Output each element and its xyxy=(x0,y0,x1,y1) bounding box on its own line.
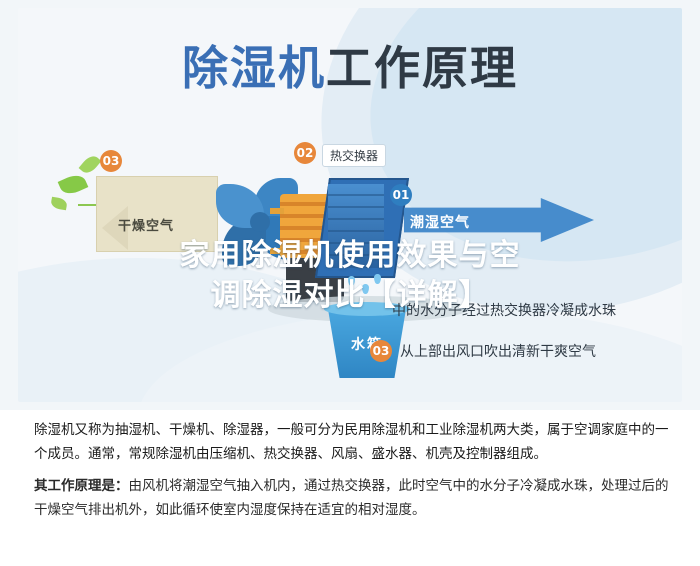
diagram-title: 除湿机工作原理 xyxy=(18,32,682,98)
leaf-icon xyxy=(79,153,102,177)
dry-air-label: 干燥空气 xyxy=(118,215,174,234)
badge-03-left: 03 xyxy=(100,150,122,172)
badge-02: 02 xyxy=(294,142,316,164)
article-paragraph-2: 其工作原理是：由风机将潮湿空气抽入机内，通过热交换器，此时空气中的水分子冷凝成水… xyxy=(34,474,670,522)
article-paragraph-1: 除湿机又称为抽湿机、干燥机、除湿器，一般可分为民用除湿机和工业除湿机两大类，属于… xyxy=(34,418,670,466)
refrigerant-pipe xyxy=(270,208,284,214)
page-root: 除湿机工作原理 干燥空气 xyxy=(0,0,700,566)
diagram-title-part2: 工作原理 xyxy=(326,41,518,95)
heat-exchanger-fin xyxy=(328,206,384,208)
article-paragraph-2-text: 由风机将潮湿空气抽入机内，通过热交换器，此时空气中的水分子冷凝成水珠，处理过后的… xyxy=(34,478,669,518)
heat-exchanger-fin xyxy=(328,218,384,220)
heat-exchanger-fin xyxy=(328,230,384,232)
leaf-icon xyxy=(50,197,68,211)
badge-01: 01 xyxy=(390,184,412,206)
heat-exchanger-fin xyxy=(328,194,384,196)
watermark-headline: 家用除湿机使用效果与空 调除湿对比【详解】 xyxy=(0,236,700,316)
fan-hub xyxy=(250,212,270,232)
badge-03-bottom: 03 xyxy=(370,340,392,362)
caption-line-03: 从上部出风口吹出清新干爽空气 xyxy=(400,341,596,361)
diagram-title-part1: 除湿机 xyxy=(182,41,326,95)
dehumidifier-principle-diagram: 除湿机工作原理 干燥空气 xyxy=(0,0,700,410)
article-body: 除湿机又称为抽湿机、干燥机、除湿器，一般可分为民用除湿机和工业除湿机两大类，属于… xyxy=(34,418,670,530)
watermark-line-2: 调除湿对比【详解】 xyxy=(0,276,700,316)
heat-exchanger-callout-label: 热交换器 xyxy=(322,144,386,167)
article-paragraph-2-lead: 其工作原理是： xyxy=(34,478,129,494)
humid-air-label: 潮湿空气 xyxy=(410,212,470,232)
watermark-line-1: 家用除湿机使用效果与空 xyxy=(0,236,700,276)
